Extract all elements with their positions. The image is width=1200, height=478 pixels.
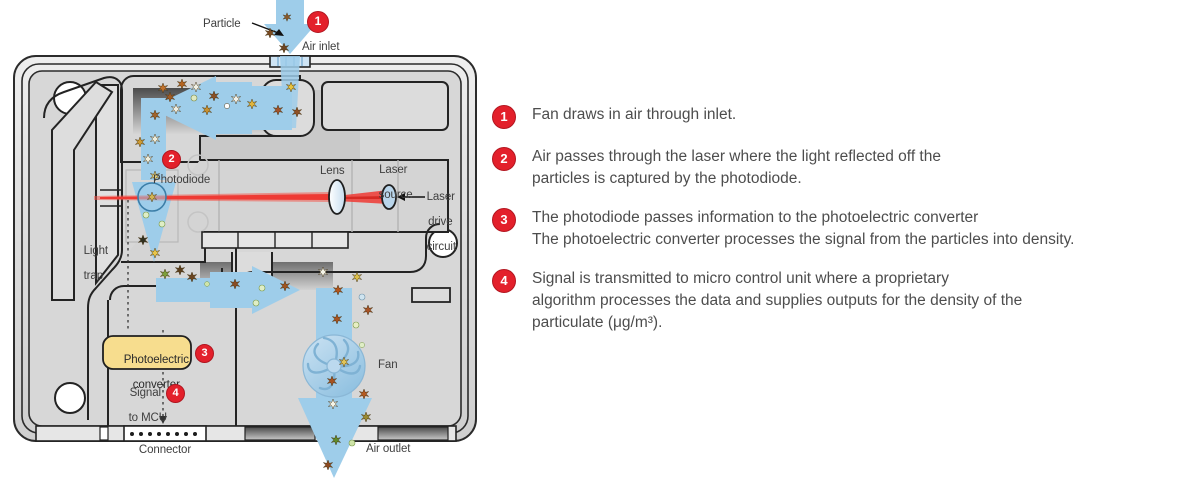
label-lens: Lens — [320, 165, 345, 178]
label-signal-to-mcu: Signal to MCU — [110, 374, 162, 437]
step-line: The photoelectric converter processes th… — [532, 229, 1198, 251]
step-text: Air passes through the laser where the l… — [532, 146, 1198, 190]
step-badge[interactable]: 3 — [492, 208, 516, 232]
step-item: 2 Air passes through the laser where the… — [492, 146, 1198, 190]
label-light-trap: Light trap — [65, 232, 103, 295]
diagram-badge-4[interactable]: 4 — [166, 384, 185, 403]
laser-drive-line1: Laser — [427, 191, 455, 203]
signal-line1: Signal — [130, 387, 161, 399]
diagram-badge-1[interactable]: 1 — [307, 11, 329, 33]
step-line: Signal is transmitted to micro control u… — [532, 268, 1198, 290]
step-badge[interactable]: 2 — [492, 147, 516, 171]
step-line: Fan draws in air through inlet. — [532, 104, 1198, 126]
step-item: 4 Signal is transmitted to micro control… — [492, 268, 1198, 334]
vent-slots-mid — [202, 232, 348, 248]
step-text: Fan draws in air through inlet. — [532, 104, 1198, 126]
bottom-band — [36, 426, 456, 441]
signal-line2: to MCU — [129, 412, 167, 424]
step-text: Signal is transmitted to micro control u… — [532, 268, 1198, 334]
fan-impeller — [303, 335, 365, 397]
step-line: Air passes through the laser where the l… — [532, 146, 1198, 168]
light-trap-line1: Light — [84, 245, 108, 257]
step-item: 3 The photodiode passes information to t… — [492, 207, 1198, 251]
photoelectric-line1: Photoelectric — [124, 354, 189, 366]
step-badge[interactable]: 4 — [492, 269, 516, 293]
label-photodiode: Photodiode — [153, 174, 210, 187]
label-laser-drive-circuit: Laser drive circuit — [408, 178, 454, 266]
step-line: particles is captured by the photodiode. — [532, 168, 1198, 190]
step-line: particulate (μg/m³). — [532, 312, 1198, 334]
step-text: The photodiode passes information to the… — [532, 207, 1198, 251]
laser-drive-line2: drive — [428, 216, 452, 228]
sensor-diagram: Particle Air inlet Photodiode Lens Laser… — [0, 0, 490, 478]
label-connector: Connector — [124, 444, 206, 457]
label-particle: Particle — [203, 18, 241, 31]
laser-drive-line3: circuit — [427, 241, 456, 253]
steps-list: 1 Fan draws in air through inlet. 2 Air … — [492, 104, 1198, 351]
step-badge[interactable]: 1 — [492, 105, 516, 129]
label-air-outlet: Air outlet — [366, 443, 410, 456]
label-air-inlet: Air inlet — [302, 41, 339, 54]
diagram-badge-3[interactable]: 3 — [195, 344, 214, 363]
laser-source-line1: Laser — [379, 164, 407, 176]
lens — [329, 180, 345, 214]
light-trap-line2: trap — [84, 270, 103, 282]
pcb-area-top-right — [322, 82, 448, 130]
label-laser-source: Laser source — [360, 151, 408, 214]
diagram-badge-2[interactable]: 2 — [162, 150, 181, 169]
step-item: 1 Fan draws in air through inlet. — [492, 104, 1198, 129]
step-line: algorithm processes the data and supplie… — [532, 290, 1198, 312]
step-line: The photodiode passes information to the… — [532, 207, 1198, 229]
label-fan: Fan — [378, 359, 398, 372]
